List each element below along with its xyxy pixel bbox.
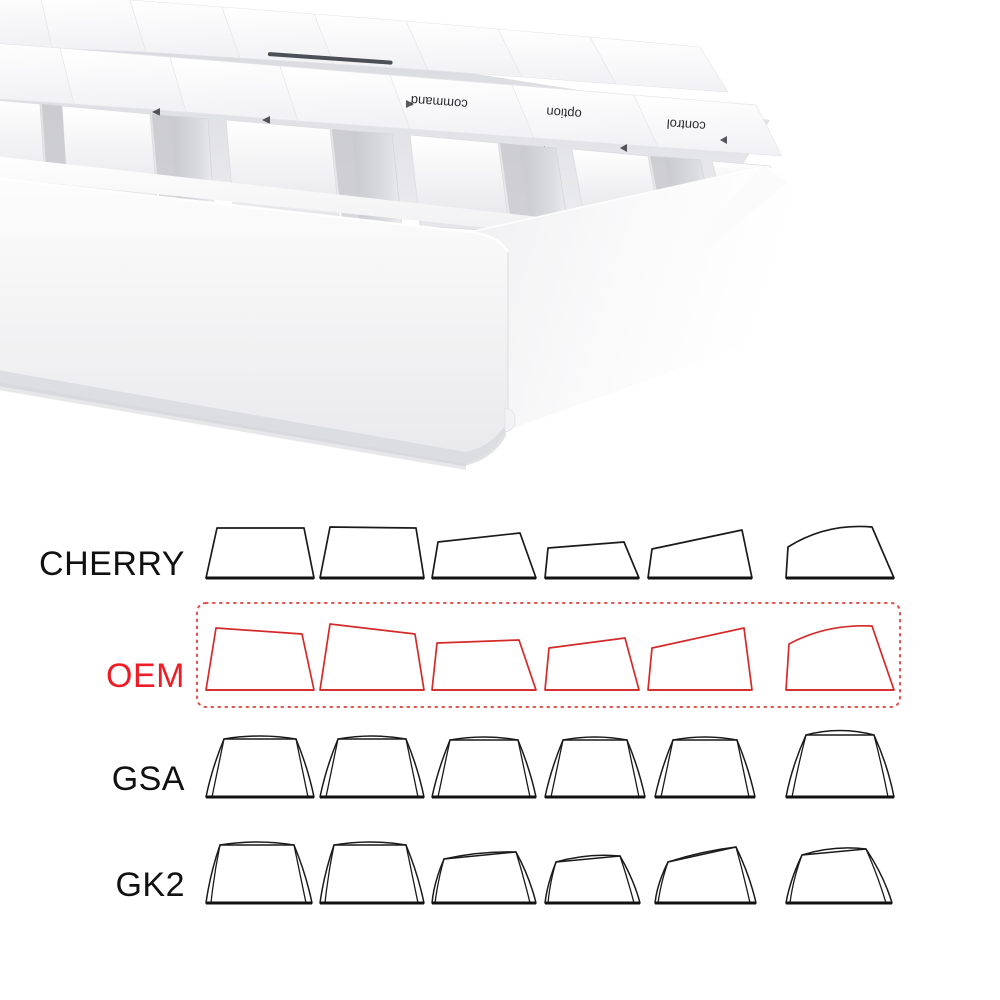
keyboard-photo: command option control [0, 0, 1000, 490]
keycap-legend-control: control [666, 116, 706, 134]
gk2-caps [206, 842, 892, 903]
cap-oem-r3 [320, 624, 424, 690]
profile-label-oem: OEM [106, 657, 185, 695]
cap-gk2-r2 [432, 852, 536, 903]
cap-cherry-r4 [206, 528, 314, 578]
cap-cherry-r1b [648, 530, 752, 578]
profile-label-gk2: GK2 [115, 866, 185, 904]
oem-caps [206, 624, 894, 690]
cap-cherry-r2 [432, 533, 536, 578]
cap-oem-r4 [206, 628, 314, 690]
cap-gk2-r1b [655, 847, 756, 903]
keycap-profile-diagram: CHERRY [0, 490, 1000, 1000]
profile-row-gsa: GSA [112, 731, 894, 799]
cap-oem-r1b [648, 628, 752, 690]
cap-cherry-r3 [320, 527, 424, 578]
cap-cherry-r0 [786, 526, 894, 578]
page-root: command option control [0, 0, 1000, 1000]
profile-row-gk2: GK2 [115, 842, 892, 904]
keyboard-photo-svg: command option control [0, 0, 1000, 490]
cap-gsa-r1 [545, 740, 645, 797]
cap-gsa-r4-inner [212, 739, 308, 797]
profile-label-gsa: GSA [112, 760, 185, 798]
cap-oem-r0 [786, 626, 894, 690]
cherry-caps [206, 526, 894, 578]
profile-row-cherry: CHERRY [39, 526, 894, 583]
cap-oem-r2 [432, 640, 536, 690]
cap-gsa-r1b [655, 740, 755, 797]
cap-gsa-r0 [786, 735, 894, 797]
profile-chart-svg: CHERRY [0, 490, 1000, 1000]
cap-gk2-r1 [545, 856, 640, 903]
gsa-caps [206, 731, 894, 798]
profile-label-cherry: CHERRY [39, 545, 185, 583]
cap-cherry-r1 [545, 542, 639, 578]
keycap-legend-option: option [546, 105, 582, 122]
profile-row-oem: OEM [106, 603, 900, 707]
cap-oem-r1 [545, 638, 639, 690]
